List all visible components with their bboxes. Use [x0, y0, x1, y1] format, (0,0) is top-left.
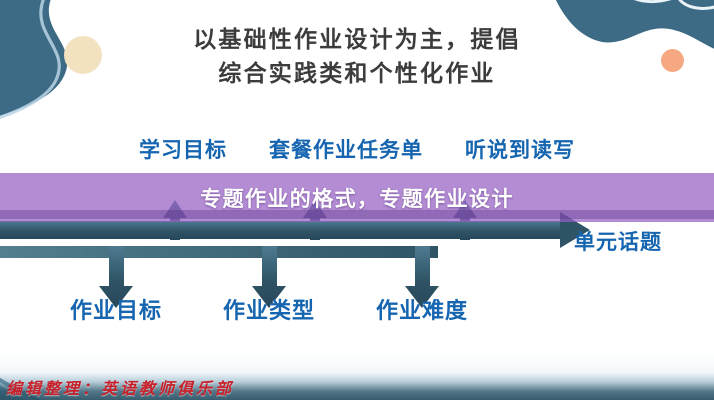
credit-watermark: 编辑整理：英语教师俱乐部 — [6, 375, 234, 399]
bottom-label-homework-goal: 作业目标 — [70, 293, 162, 325]
bottom-label-homework-difficulty: 作业难度 — [376, 293, 468, 325]
poster-headline: 以基础性作业设计为主，提倡 综合实践类和个性化作业 — [0, 22, 714, 90]
bottom-label-homework-type: 作业类型 — [223, 293, 315, 325]
overlay-banner-shadow-strip — [0, 210, 714, 219]
overlay-title-text: 专题作业的格式，专题作业设计 — [200, 183, 514, 213]
poster-canvas: 以基础性作业设计为主，提倡 综合实践类和个性化作业 学习目标 套餐作业任务单 听… — [0, 0, 714, 400]
headline-line-1: 以基础性作业设计为主，提倡 — [0, 22, 714, 56]
headline-line-2: 综合实践类和个性化作业 — [0, 56, 714, 90]
unit-topic-label: 单元话题 — [574, 226, 662, 256]
bottom-label-row: 作业目标 作业类型 作业难度 — [0, 293, 714, 327]
